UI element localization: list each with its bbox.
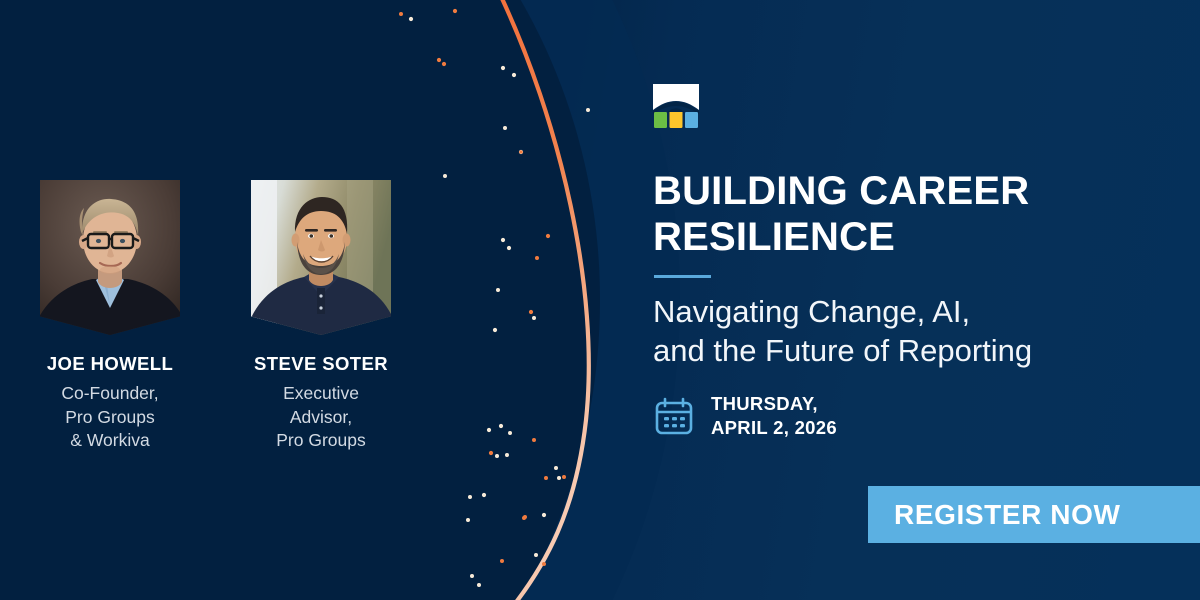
page-subtitle: Navigating Change, AI, and the Future of… [653,292,1153,370]
calendar-icon [653,395,695,437]
speaker-name: STEVE SOTER [251,353,391,375]
workiva-logo-icon [653,84,699,128]
speaker-photo-joe-howell [40,180,180,335]
webinar-promo-banner: JOE HOWELL Co-Founder, Pro Groups & Work… [0,0,1200,600]
speaker-card-1: STEVE SOTER Executive Advisor, Pro Group… [251,180,391,453]
speaker-role: Co-Founder, Pro Groups & Workiva [40,382,180,453]
register-now-button[interactable]: REGISTER NOW [868,486,1200,543]
speaker-card-0: JOE HOWELL Co-Founder, Pro Groups & Work… [40,180,180,453]
event-date: THURSDAY, APRIL 2, 2026 [711,392,837,441]
title-divider [654,275,711,278]
event-date-row: THURSDAY, APRIL 2, 2026 [653,392,837,441]
speaker-name: JOE HOWELL [40,353,180,375]
page-title: BUILDING CAREER RESILIENCE [653,168,1123,261]
speaker-role: Executive Advisor, Pro Groups [251,382,391,453]
speaker-photo-steve-soter [251,180,391,335]
speaker-list: JOE HOWELL Co-Founder, Pro Groups & Work… [40,180,470,453]
